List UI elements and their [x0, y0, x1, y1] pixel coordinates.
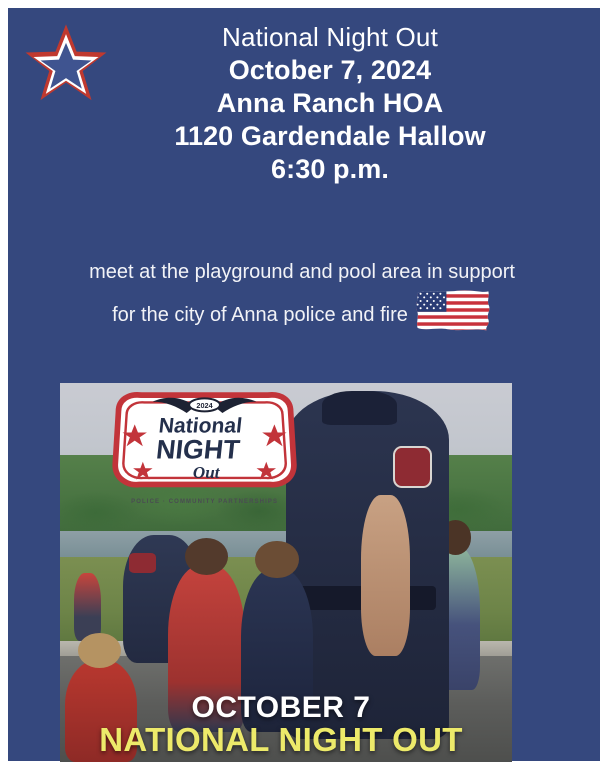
tattooed-arm [361, 495, 410, 655]
event-photo: 2024 National NIGHT Out POLICE · COMMUNI… [60, 383, 512, 762]
headline-line-3: Anna Ranch HOA [110, 87, 550, 120]
caption-date: OCTOBER 7 [60, 692, 502, 724]
us-flag-icon [414, 287, 492, 333]
caption-event: NATIONAL NIGHT OUT [60, 723, 502, 758]
national-night-out-logo: 2024 National NIGHT Out [78, 387, 331, 501]
subtext-line-2: for the city of Anna police and fire [112, 304, 408, 326]
headline-line-2: October 7, 2024 [110, 54, 550, 87]
flyer: National Night Out October 7, 2024 Anna … [0, 0, 600, 776]
logo-word-night: NIGHT [155, 434, 242, 464]
logo-word-out: Out [193, 463, 221, 482]
photo-figure-runner [74, 573, 101, 641]
star-icon [22, 20, 110, 108]
subtext-line-1: meet at the playground and pool area in … [26, 258, 578, 287]
shoulder-patch-icon [129, 553, 155, 574]
logo-year: 2024 [197, 401, 214, 410]
headline-line-5: 6:30 p.m. [110, 153, 550, 186]
police-shoulder-patch-icon [393, 446, 432, 488]
subtext-line-2-wrapper: for the city of Anna police and fire [26, 287, 578, 333]
subtext-block: meet at the playground and pool area in … [26, 258, 578, 333]
headline-line-4: 1120 Gardendale Hallow [110, 120, 550, 153]
logo-tagline: POLICE · COMMUNITY PARTNERSHIPS [87, 499, 322, 505]
headline-line-1: National Night Out [110, 22, 550, 54]
photo-caption: OCTOBER 7 NATIONAL NIGHT OUT [60, 692, 512, 758]
headline-block: National Night Out October 7, 2024 Anna … [110, 22, 550, 185]
